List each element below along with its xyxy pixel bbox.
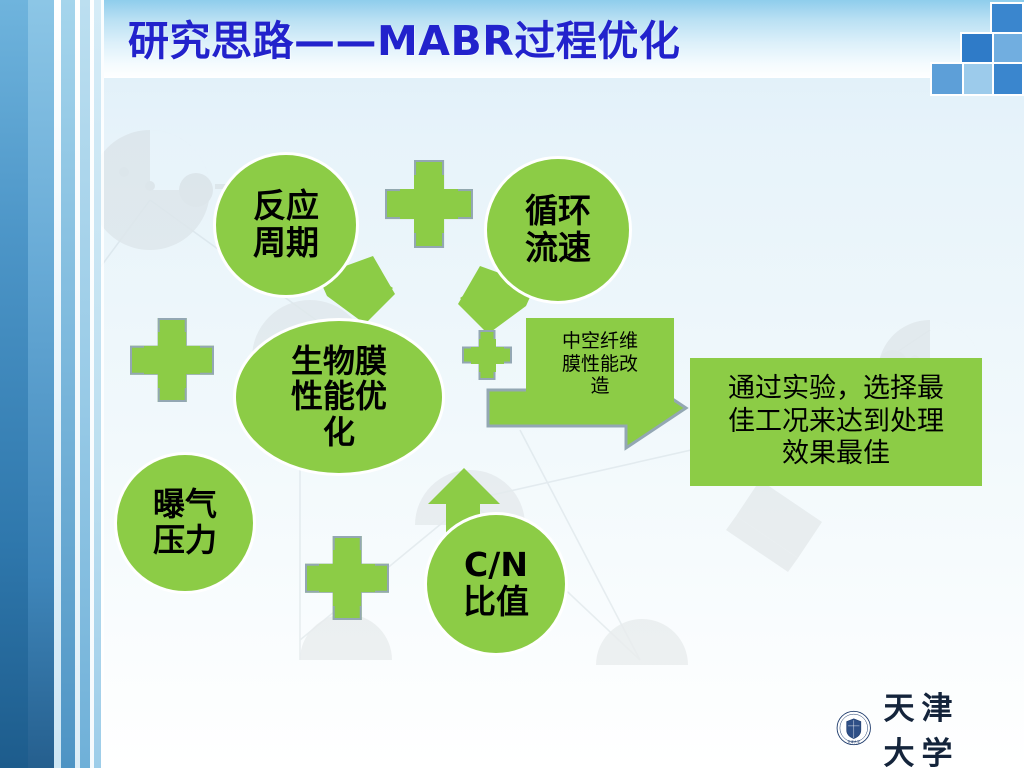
node-membrane-line2: 膜性能改	[562, 353, 638, 375]
node-cn-ratio-line2: 比值	[463, 584, 529, 621]
plus-left-fill-v	[158, 332, 187, 387]
plus-operator-bottom	[305, 536, 389, 620]
plus-bottom-fill-v	[333, 550, 362, 605]
result-line3: 效果最佳	[728, 438, 944, 471]
plus-operator-middle	[462, 330, 512, 380]
node-biofilm-optimization[interactable]: 生物膜 性能优 化	[233, 318, 445, 476]
plus-middle-fill-v	[479, 339, 496, 372]
tianjin-university-emblem-icon: 天津大学	[836, 704, 872, 752]
plus-top-fill-v	[414, 175, 444, 233]
university-logo: 天津大学 天津大学	[836, 700, 996, 756]
node-aeration-pressure-line1: 曝气	[153, 487, 217, 523]
node-circulation-rate[interactable]: 循环 流速	[484, 156, 632, 304]
result-line2: 佳工况来达到处理	[728, 406, 944, 439]
node-biofilm-line2: 性能优	[291, 379, 387, 414]
node-biofilm-line3: 化	[291, 415, 387, 450]
node-biofilm-line1: 生物膜	[291, 344, 387, 379]
slide-canvas: 研究思路——MABR过程优化	[0, 0, 1024, 768]
node-aeration-pressure[interactable]: 曝气 压力	[114, 452, 256, 594]
university-logo-text: 天津大学	[884, 683, 996, 768]
node-membrane-modification[interactable]: 中空纤维 膜性能改 造	[526, 318, 674, 410]
node-circulation-rate-line2: 流速	[525, 230, 591, 267]
node-reaction-cycle[interactable]: 反应 周期	[213, 152, 359, 298]
svg-text:天津大学: 天津大学	[847, 739, 860, 744]
node-cn-ratio[interactable]: C/N 比值	[424, 512, 568, 656]
node-reaction-cycle-line2: 周期	[253, 225, 319, 262]
plus-operator-top	[385, 160, 473, 248]
plus-operator-left	[130, 318, 214, 402]
node-membrane-line1: 中空纤维	[562, 330, 638, 352]
node-reaction-cycle-line1: 反应	[253, 188, 319, 225]
node-membrane-line3: 造	[562, 375, 638, 397]
node-cn-ratio-line1: C/N	[463, 547, 529, 584]
node-aeration-pressure-line2: 压力	[153, 523, 217, 559]
node-circulation-rate-line1: 循环	[525, 193, 591, 230]
result-line1: 通过实验，选择最	[728, 373, 944, 406]
result-box[interactable]: 通过实验，选择最 佳工况来达到处理 效果最佳	[690, 358, 982, 486]
